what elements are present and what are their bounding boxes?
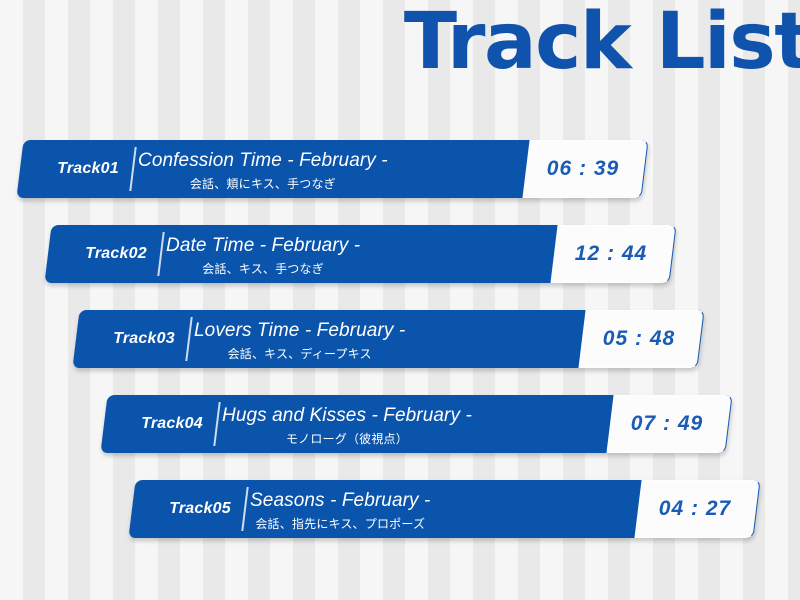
- track-duration: 04 : 27: [639, 480, 751, 538]
- track-subtitle: 会話、キス、手つなぎ: [202, 260, 324, 277]
- track-text-block: Confession Time - February -会話、頬にキス、手つなぎ: [138, 140, 388, 200]
- track-row[interactable]: Track01Confession Time - February -会話、頬に…: [20, 140, 645, 198]
- track-text-block: Lovers Time - February -会話、キス、ディープキス: [194, 310, 405, 370]
- track-number: Track03: [102, 310, 186, 368]
- track-duration: 07 : 49: [611, 395, 723, 453]
- track-number: Track01: [46, 140, 130, 198]
- track-text-block: Date Time - February -会話、キス、手つなぎ: [166, 225, 360, 285]
- track-subtitle: 会話、指先にキス、プロポーズ: [255, 515, 425, 532]
- track-row-content: Track05Seasons - February -会話、指先にキス、プロポー…: [132, 480, 757, 538]
- track-title: Confession Time - February -: [138, 150, 388, 172]
- track-subtitle: 会話、キス、ディープキス: [228, 345, 372, 362]
- track-row[interactable]: Track05Seasons - February -会話、指先にキス、プロポー…: [132, 480, 757, 538]
- track-title: Seasons - February -: [250, 490, 430, 512]
- track-duration: 12 : 44: [555, 225, 667, 283]
- track-row[interactable]: Track02Date Time - February -会話、キス、手つなぎ1…: [48, 225, 673, 283]
- track-title: Lovers Time - February -: [194, 320, 405, 342]
- track-list: Track01Confession Time - February -会話、頬に…: [0, 0, 800, 600]
- track-duration: 06 : 39: [527, 140, 639, 198]
- track-number: Track02: [74, 225, 158, 283]
- track-row[interactable]: Track04Hugs and Kisses - February -モノローグ…: [104, 395, 729, 453]
- track-number: Track04: [130, 395, 214, 453]
- track-subtitle: モノローグ（彼視点）: [286, 430, 408, 447]
- track-row-content: Track02Date Time - February -会話、キス、手つなぎ1…: [48, 225, 673, 283]
- track-row-content: Track01Confession Time - February -会話、頬に…: [20, 140, 645, 198]
- track-row-content: Track03Lovers Time - February -会話、キス、ディー…: [76, 310, 701, 368]
- track-duration: 05 : 48: [583, 310, 695, 368]
- track-subtitle: 会話、頬にキス、手つなぎ: [190, 175, 336, 192]
- track-title: Hugs and Kisses - February -: [222, 405, 472, 427]
- track-text-block: Seasons - February -会話、指先にキス、プロポーズ: [250, 480, 430, 540]
- slide-canvas: Track List Track01Confession Time - Febr…: [0, 0, 800, 600]
- track-row-content: Track04Hugs and Kisses - February -モノローグ…: [104, 395, 729, 453]
- track-text-block: Hugs and Kisses - February -モノローグ（彼視点）: [222, 395, 472, 455]
- track-title: Date Time - February -: [166, 235, 360, 257]
- track-row[interactable]: Track03Lovers Time - February -会話、キス、ディー…: [76, 310, 701, 368]
- track-number: Track05: [158, 480, 242, 538]
